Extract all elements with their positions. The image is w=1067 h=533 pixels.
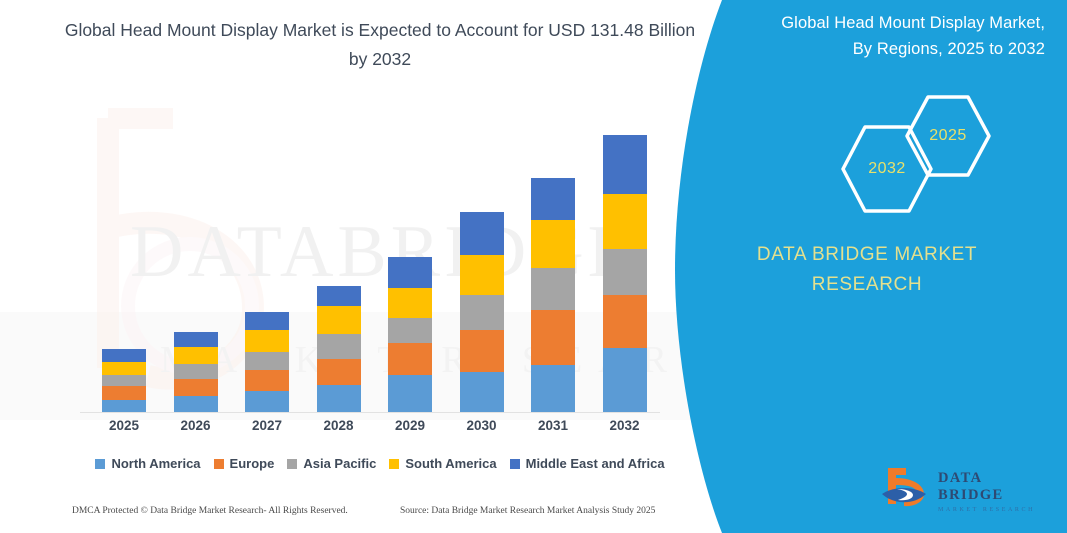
- bar-segment: [460, 330, 504, 372]
- bar-segment: [245, 312, 289, 330]
- legend-item[interactable]: Europe: [214, 456, 275, 471]
- legend-swatch-icon: [510, 459, 520, 469]
- x-axis-label: 2027: [237, 418, 297, 433]
- legend-label: Middle East and Africa: [526, 456, 665, 471]
- legend-swatch-icon: [287, 459, 297, 469]
- logo-subtitle: MARKET RESEARCH: [938, 507, 1050, 513]
- bar-segment: [603, 135, 647, 194]
- bar-segment: [531, 178, 575, 220]
- legend-label: North America: [111, 456, 200, 471]
- x-axis-label: 2032: [595, 418, 655, 433]
- bar-segment: [245, 352, 289, 370]
- legend-item[interactable]: Asia Pacific: [287, 456, 376, 471]
- bar-group: [317, 286, 361, 412]
- bar-segment: [317, 306, 361, 334]
- bar-segment: [531, 220, 575, 268]
- bar-segment: [388, 257, 432, 288]
- bar-segment: [317, 286, 361, 306]
- bar-segment: [102, 349, 146, 362]
- bar-segment: [460, 295, 504, 330]
- bar-segment: [531, 365, 575, 412]
- footer-copyright: DMCA Protected © Data Bridge Market Rese…: [72, 506, 348, 516]
- bar-segment: [102, 375, 146, 386]
- legend-item[interactable]: North America: [95, 456, 200, 471]
- bar-group: [245, 312, 289, 412]
- panel-title-line2: By Regions, 2025 to 2032: [745, 36, 1045, 62]
- chart-area: DATABRIDGE MARKET RESEARCH Global Head M…: [0, 0, 712, 533]
- legend-swatch-icon: [214, 459, 224, 469]
- bar-segment: [603, 295, 647, 348]
- footer-source: Source: Data Bridge Market Research Mark…: [400, 506, 655, 516]
- bar-group: [174, 332, 218, 412]
- axis-baseline: [80, 412, 660, 413]
- bar-segment: [102, 386, 146, 400]
- legend-label: South America: [405, 456, 496, 471]
- x-axis-label: 2026: [166, 418, 226, 433]
- infographic-root: DATABRIDGE MARKET RESEARCH Global Head M…: [0, 0, 1067, 533]
- plot-region: [80, 100, 670, 413]
- bar-segment: [388, 343, 432, 375]
- footer: DMCA Protected © Data Bridge Market Rese…: [0, 506, 712, 528]
- bar-segment: [245, 330, 289, 352]
- hexagon-group: 2032 2025: [827, 95, 1047, 205]
- bar-segment: [317, 359, 361, 385]
- bar-group: [388, 257, 432, 412]
- chart-legend: North AmericaEuropeAsia PacificSouth Ame…: [80, 456, 680, 471]
- hexagon-start-year-label: 2025: [903, 93, 993, 179]
- bar-segment: [102, 400, 146, 412]
- bar-segment: [388, 318, 432, 343]
- data-bridge-logo-icon: [880, 464, 932, 510]
- bar-segment: [174, 347, 218, 364]
- bar-segment: [603, 194, 647, 249]
- brand-name-line1: DATA BRIDGE MARKET: [667, 240, 1067, 270]
- bar-segment: [102, 362, 146, 375]
- bar-segment: [603, 249, 647, 295]
- legend-label: Asia Pacific: [303, 456, 376, 471]
- legend-item[interactable]: Middle East and Africa: [510, 456, 665, 471]
- bar-series-container: [80, 100, 670, 413]
- bar-group: [603, 135, 647, 412]
- bar-segment: [174, 379, 218, 396]
- bar-segment: [531, 268, 575, 310]
- bar-segment: [317, 334, 361, 359]
- bar-segment: [460, 212, 504, 255]
- panel-title: Global Head Mount Display Market, By Reg…: [745, 10, 1045, 62]
- legend-swatch-icon: [95, 459, 105, 469]
- hexagon-start-year: 2025: [903, 93, 993, 179]
- x-axis-label: 2030: [452, 418, 512, 433]
- bar-segment: [174, 364, 218, 379]
- bar-segment: [460, 372, 504, 412]
- legend-swatch-icon: [389, 459, 399, 469]
- logo-wordmark: DATA BRIDGE MARKET RESEARCH: [938, 470, 1050, 513]
- brand-name-line2: RESEARCH: [667, 270, 1067, 300]
- legend-label: Europe: [230, 456, 275, 471]
- legend-item[interactable]: South America: [389, 456, 496, 471]
- bar-group: [102, 349, 146, 412]
- panel-title-line1: Global Head Mount Display Market,: [781, 14, 1045, 32]
- x-axis-label: 2025: [94, 418, 154, 433]
- bar-group: [460, 212, 504, 412]
- bar-segment: [460, 255, 504, 295]
- bar-segment: [603, 348, 647, 412]
- bar-segment: [388, 288, 432, 318]
- chart-title: Global Head Mount Display Market is Expe…: [60, 16, 700, 74]
- bar-segment: [245, 370, 289, 391]
- x-axis-label: 2028: [309, 418, 369, 433]
- x-axis-label: 2029: [380, 418, 440, 433]
- bar-segment: [174, 396, 218, 412]
- logo-title: DATA BRIDGE: [938, 470, 1050, 504]
- bar-group: [531, 178, 575, 412]
- brand-name: DATA BRIDGE MARKET RESEARCH: [667, 240, 1067, 300]
- x-axis-label: 2031: [523, 418, 583, 433]
- x-axis-labels: 20252026202720282029203020312032: [80, 418, 670, 442]
- bar-segment: [531, 310, 575, 365]
- bar-segment: [317, 385, 361, 412]
- company-logo: DATA BRIDGE MARKET RESEARCH: [880, 462, 1050, 514]
- bar-segment: [174, 332, 218, 347]
- bar-segment: [245, 391, 289, 412]
- bar-segment: [388, 375, 432, 412]
